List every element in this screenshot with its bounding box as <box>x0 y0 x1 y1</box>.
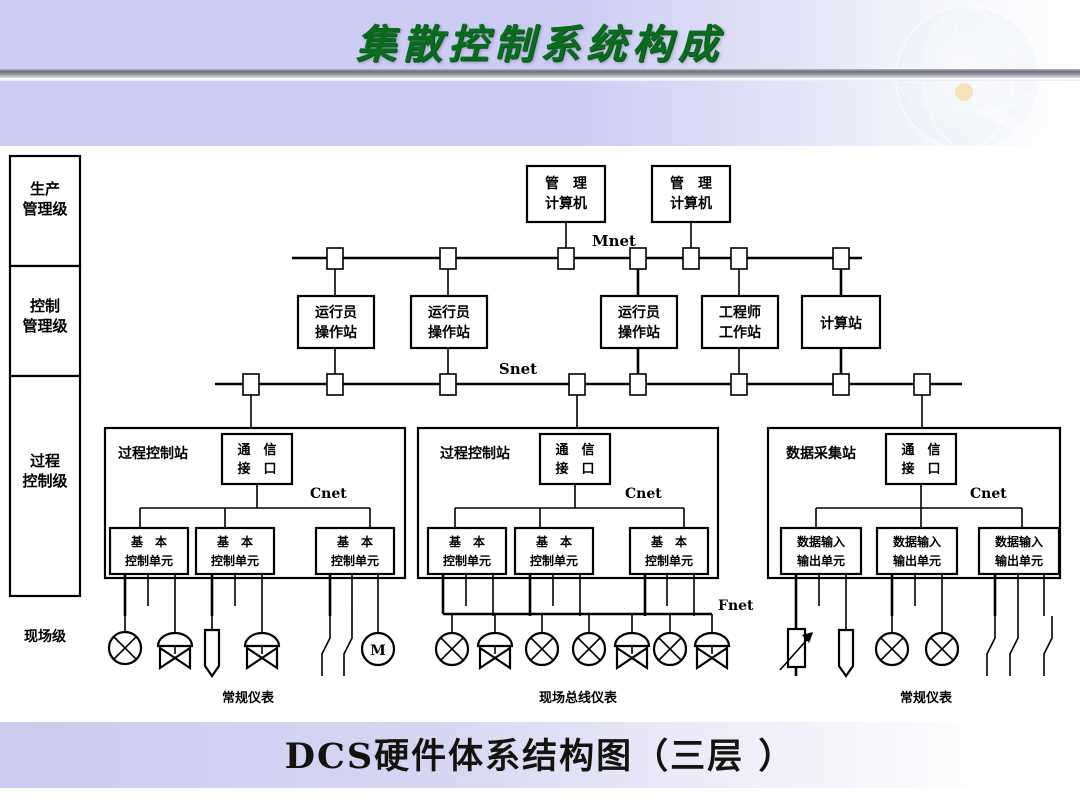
station-2-label-2: 操作站 <box>428 324 470 341</box>
mnet-node-3 <box>558 248 574 269</box>
station-4-label-1: 工程师 <box>719 304 761 321</box>
mnet-bus: Mnet <box>292 232 862 269</box>
level-label-process-1: 过程 <box>30 452 60 470</box>
panel-1-unit-3-label-2: 控制单元 <box>331 553 379 568</box>
panel-3-cnet-label: Cnet <box>970 486 1007 502</box>
snet-node-6 <box>731 374 747 395</box>
panel-3-title: 数据采集站 <box>786 445 856 462</box>
snet-bus: Snet <box>215 360 962 395</box>
panel-1-unit-3-label-1: 基 本 <box>336 534 373 549</box>
level-label-control-1: 控制 <box>30 297 60 315</box>
panel-3-unit-3-label-2: 输出单元 <box>995 553 1043 568</box>
station-operator-2: 运行员 操作站 <box>411 269 487 384</box>
field-caption-3: 常规仪表 <box>900 690 953 706</box>
station-4-label-2: 工作站 <box>719 324 761 341</box>
panel-1-cnet-label: Cnet <box>310 486 347 502</box>
dcs-architecture-diagram: 生产 管理级 控制 管理级 过程 控制级 现场级 管 理 计算机 管 理 计算机… <box>0 146 1080 726</box>
station-3-label-1: 运行员 <box>618 304 660 321</box>
field-caption-1: 常规仪表 <box>222 690 275 706</box>
level-sidebar: 生产 管理级 控制 管理级 过程 控制级 现场级 <box>10 156 80 645</box>
snet-node-4 <box>569 374 585 395</box>
device-motor-1: M <box>362 616 394 665</box>
panel-2-unit-3-label-2: 控制单元 <box>645 553 693 568</box>
station-1-label-2: 操作站 <box>315 324 357 341</box>
snet-node-3 <box>440 374 456 395</box>
panel-2-comm-label-1: 通 信 <box>555 442 594 458</box>
field-group-fieldbus: Fnet <box>436 598 754 706</box>
level-label-production-2: 管理级 <box>22 200 68 218</box>
management-computer-2-label-2: 计算机 <box>670 195 712 212</box>
device-meter-x-4 <box>573 614 605 665</box>
management-computer-2-label-1: 管 理 <box>670 175 712 192</box>
page-title: 集散控制系统构成 <box>0 12 1080 70</box>
level-label-production-1: 生产 <box>30 180 60 198</box>
device-thermowell-1 <box>205 616 219 676</box>
station-operator-3: 运行员 操作站 <box>601 269 677 384</box>
fnet-label: Fnet <box>718 598 754 614</box>
panel-1-comm-label-1: 通 信 <box>237 442 276 458</box>
snet-node-2 <box>327 374 343 395</box>
panel-2-cnet-label: Cnet <box>625 486 662 502</box>
level-label-field: 现场级 <box>24 628 67 645</box>
station-2-label-1: 运行员 <box>428 304 470 321</box>
panel-3-unit-1-label-2: 输出单元 <box>797 553 845 568</box>
panel-2-unit-1-label-2: 控制单元 <box>443 553 491 568</box>
panel-3-unit-2-label-2: 输出单元 <box>893 553 941 568</box>
panel-2-unit-1-label-1: 基 本 <box>448 534 485 549</box>
management-computer-2: 管 理 计算机 <box>652 166 730 250</box>
device-meter-x-3 <box>526 614 558 665</box>
panel-3-comm-label-2: 接 口 <box>901 461 940 477</box>
device-break-line-4 <box>1010 606 1018 676</box>
device-control-valve-1 <box>158 616 192 668</box>
device-thermowell-2 <box>839 616 853 676</box>
panel-2-title: 过程控制站 <box>440 445 510 462</box>
station-3-label-2: 操作站 <box>618 324 660 341</box>
device-break-line-1 <box>322 616 330 676</box>
device-control-valve-5 <box>695 614 729 668</box>
snet-node-5 <box>630 374 646 395</box>
device-control-valve-2 <box>245 616 279 668</box>
panel-1-unit-2-label-1: 基 本 <box>216 534 253 549</box>
device-meter-x-5 <box>654 614 686 665</box>
station-5-label-1: 计算站 <box>820 315 862 332</box>
mnet-node-4 <box>630 248 646 269</box>
station-operator-1: 运行员 操作站 <box>298 269 374 384</box>
panel-2-comm-label-2: 接 口 <box>555 461 594 477</box>
field-caption-2: 现场总线仪表 <box>539 690 618 706</box>
panel-3-comm-label-1: 通 信 <box>901 442 940 458</box>
device-meter-x-6 <box>876 616 908 665</box>
panel-1-unit-1-label-1: 基 本 <box>130 534 167 549</box>
motor-label: M <box>370 643 386 659</box>
station-1-label-1: 运行员 <box>315 304 357 321</box>
device-variable-sensor-1 <box>780 616 813 676</box>
mnet-node-7 <box>833 248 849 269</box>
field-group-conventional-left: M 常规仪表 <box>109 606 394 706</box>
panel-3-unit-3-label-1: 数据输入 <box>995 534 1043 549</box>
device-break-line-3 <box>987 616 995 676</box>
station-compute: 计算站 <box>802 269 880 384</box>
mnet-node-5 <box>683 248 699 269</box>
panel-1-comm-label-2: 接 口 <box>237 461 276 477</box>
panel-3-unit-2-label-1: 数据输入 <box>893 534 941 549</box>
mnet-node-6 <box>731 248 747 269</box>
header-divider-highlight <box>0 78 1080 81</box>
management-computer-1-label-2: 计算机 <box>545 195 587 212</box>
device-break-line-5 <box>1044 616 1052 676</box>
panel-process-control-station-2: 过程控制站 通 信 接 口 Cnet 基 本 控制单元 基 本 控制单元 基 本… <box>418 428 718 578</box>
snet-node-7 <box>833 374 849 395</box>
device-control-valve-3 <box>478 614 512 668</box>
mnet-node-1 <box>327 248 343 269</box>
snet-node-8 <box>914 374 930 395</box>
device-control-valve-4 <box>615 614 649 668</box>
panel-2-unit-3-label-1: 基 本 <box>650 534 687 549</box>
panel-data-acquisition-station: 数据采集站 通 信 接 口 Cnet 数据输入 输出单元 数据输入 输出单元 数… <box>768 428 1060 578</box>
panel-1-unit-1-label-2: 控制单元 <box>125 553 173 568</box>
device-meter-x-7 <box>926 616 958 665</box>
panel-2-unit-2-label-1: 基 本 <box>535 534 572 549</box>
panel-1-unit-2-label-2: 控制单元 <box>211 553 259 568</box>
panel-3-unit-1-label-1: 数据输入 <box>797 534 845 549</box>
snet-node-1 <box>243 374 259 395</box>
mnet-node-2 <box>440 248 456 269</box>
station-engineer-workstation: 工程师 工作站 <box>702 269 778 384</box>
diagram-caption: DCS硬件体系结构图（三层 ） <box>0 728 1080 779</box>
management-computer-1-label-1: 管 理 <box>545 175 587 192</box>
panel-process-control-station-1: 过程控制站 通 信 接 口 Cnet 基 本 控制单元 基 本 控制单元 基 本… <box>105 428 405 578</box>
panel-2-unit-2-label-2: 控制单元 <box>530 553 578 568</box>
level-label-control-2: 管理级 <box>22 317 68 335</box>
device-break-line-2 <box>344 606 352 676</box>
header-divider-rule <box>0 69 1080 78</box>
device-meter-x-2 <box>436 614 468 665</box>
field-group-conventional-right: 常规仪表 <box>780 606 1052 706</box>
level-label-process-2: 控制级 <box>22 472 68 490</box>
slide-header: 集散控制系统构成 <box>0 0 1080 146</box>
snet-label: Snet <box>499 360 537 378</box>
device-meter-x-1 <box>109 616 141 664</box>
field-wiring <box>125 574 1044 616</box>
panel-1-title: 过程控制站 <box>118 445 188 462</box>
